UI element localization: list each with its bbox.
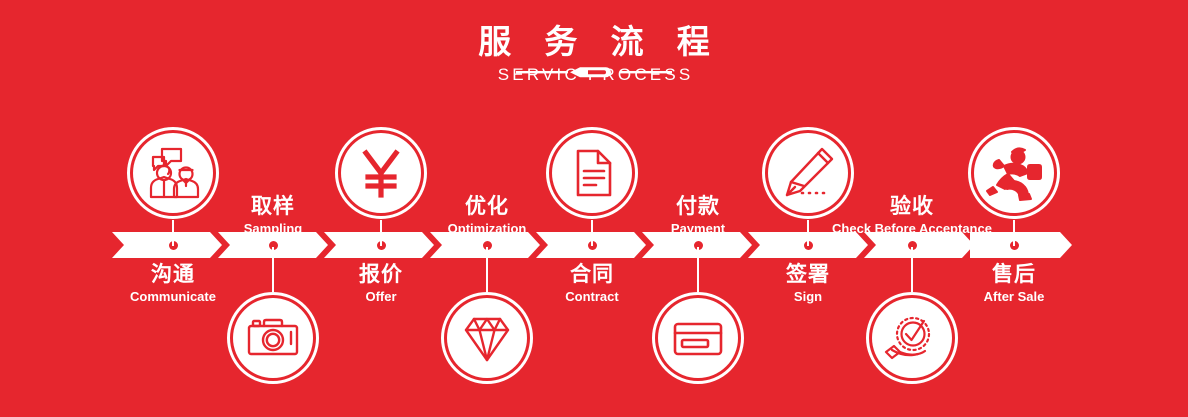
step-icon-payment[interactable] (652, 292, 744, 384)
step-label-cn: 签署 (786, 262, 830, 288)
step-icon-offer[interactable] (335, 127, 427, 219)
step-icon-check-before-acceptance[interactable] (866, 292, 958, 384)
two-people-speech-bubbles-icon (133, 133, 213, 213)
connector-stem (697, 247, 699, 292)
step-label-contract: 合同 Contract (565, 262, 618, 305)
hand-holding-checkmark-icon (872, 298, 952, 378)
connector-stem (380, 220, 382, 246)
step-label-communicate: 沟通 Communicate (130, 262, 216, 305)
step-label-cn: 售后 (984, 262, 1045, 288)
step-label-cn: 优化 (448, 194, 527, 220)
step-label-payment: 付款 Payment (671, 194, 725, 237)
connector-stem (911, 247, 913, 292)
step-label-cn: 合同 (565, 262, 618, 288)
connector-stem (272, 247, 274, 292)
page-title-cn: 服 务 流 程 (0, 22, 1188, 62)
step-label-en: Optimization (448, 221, 527, 237)
step-label-en: Payment (671, 221, 725, 237)
diamond-gem-icon (447, 298, 527, 378)
connector-stem (1013, 220, 1015, 246)
step-icon-sampling[interactable] (227, 292, 319, 384)
step-label-sampling: 取样 Sampling (244, 194, 303, 237)
connector-stem (172, 220, 174, 246)
step-label-offer: 报价 Offer (359, 262, 403, 305)
step-label-cn: 报价 (359, 262, 403, 288)
document-contract-icon (552, 133, 632, 213)
step-label-en: Check Before Acceptance (832, 221, 992, 237)
connector-stem (486, 247, 488, 292)
step-label-cn: 付款 (671, 194, 725, 220)
running-delivery-person-icon (974, 133, 1054, 213)
step-label-en: Offer (359, 289, 403, 305)
credit-card-icon (658, 298, 738, 378)
step-label-en: Sign (786, 289, 830, 305)
paperclip-divider-icon (514, 62, 674, 82)
step-icon-communicate[interactable] (127, 127, 219, 219)
step-label-cn: 取样 (244, 194, 303, 220)
step-icon-contract[interactable] (546, 127, 638, 219)
connector-stem (591, 220, 593, 246)
step-label-optimization: 优化 Optimization (448, 194, 527, 237)
step-icon-optimization[interactable] (441, 292, 533, 384)
connector-stem (807, 220, 809, 246)
step-label-sign: 签署 Sign (786, 262, 830, 305)
step-label-after-sale: 售后 After Sale (984, 262, 1045, 305)
step-label-en: Sampling (244, 221, 303, 237)
step-label-cn: 沟通 (130, 262, 216, 288)
service-process-banner: 服 务 流 程 SERVIC PROCESS (0, 0, 1188, 417)
step-icon-after-sale[interactable] (968, 127, 1060, 219)
step-label-en: Communicate (130, 289, 216, 305)
camera-icon (233, 298, 313, 378)
yen-currency-icon (341, 133, 421, 213)
step-label-en: After Sale (984, 289, 1045, 305)
step-label-en: Contract (565, 289, 618, 305)
